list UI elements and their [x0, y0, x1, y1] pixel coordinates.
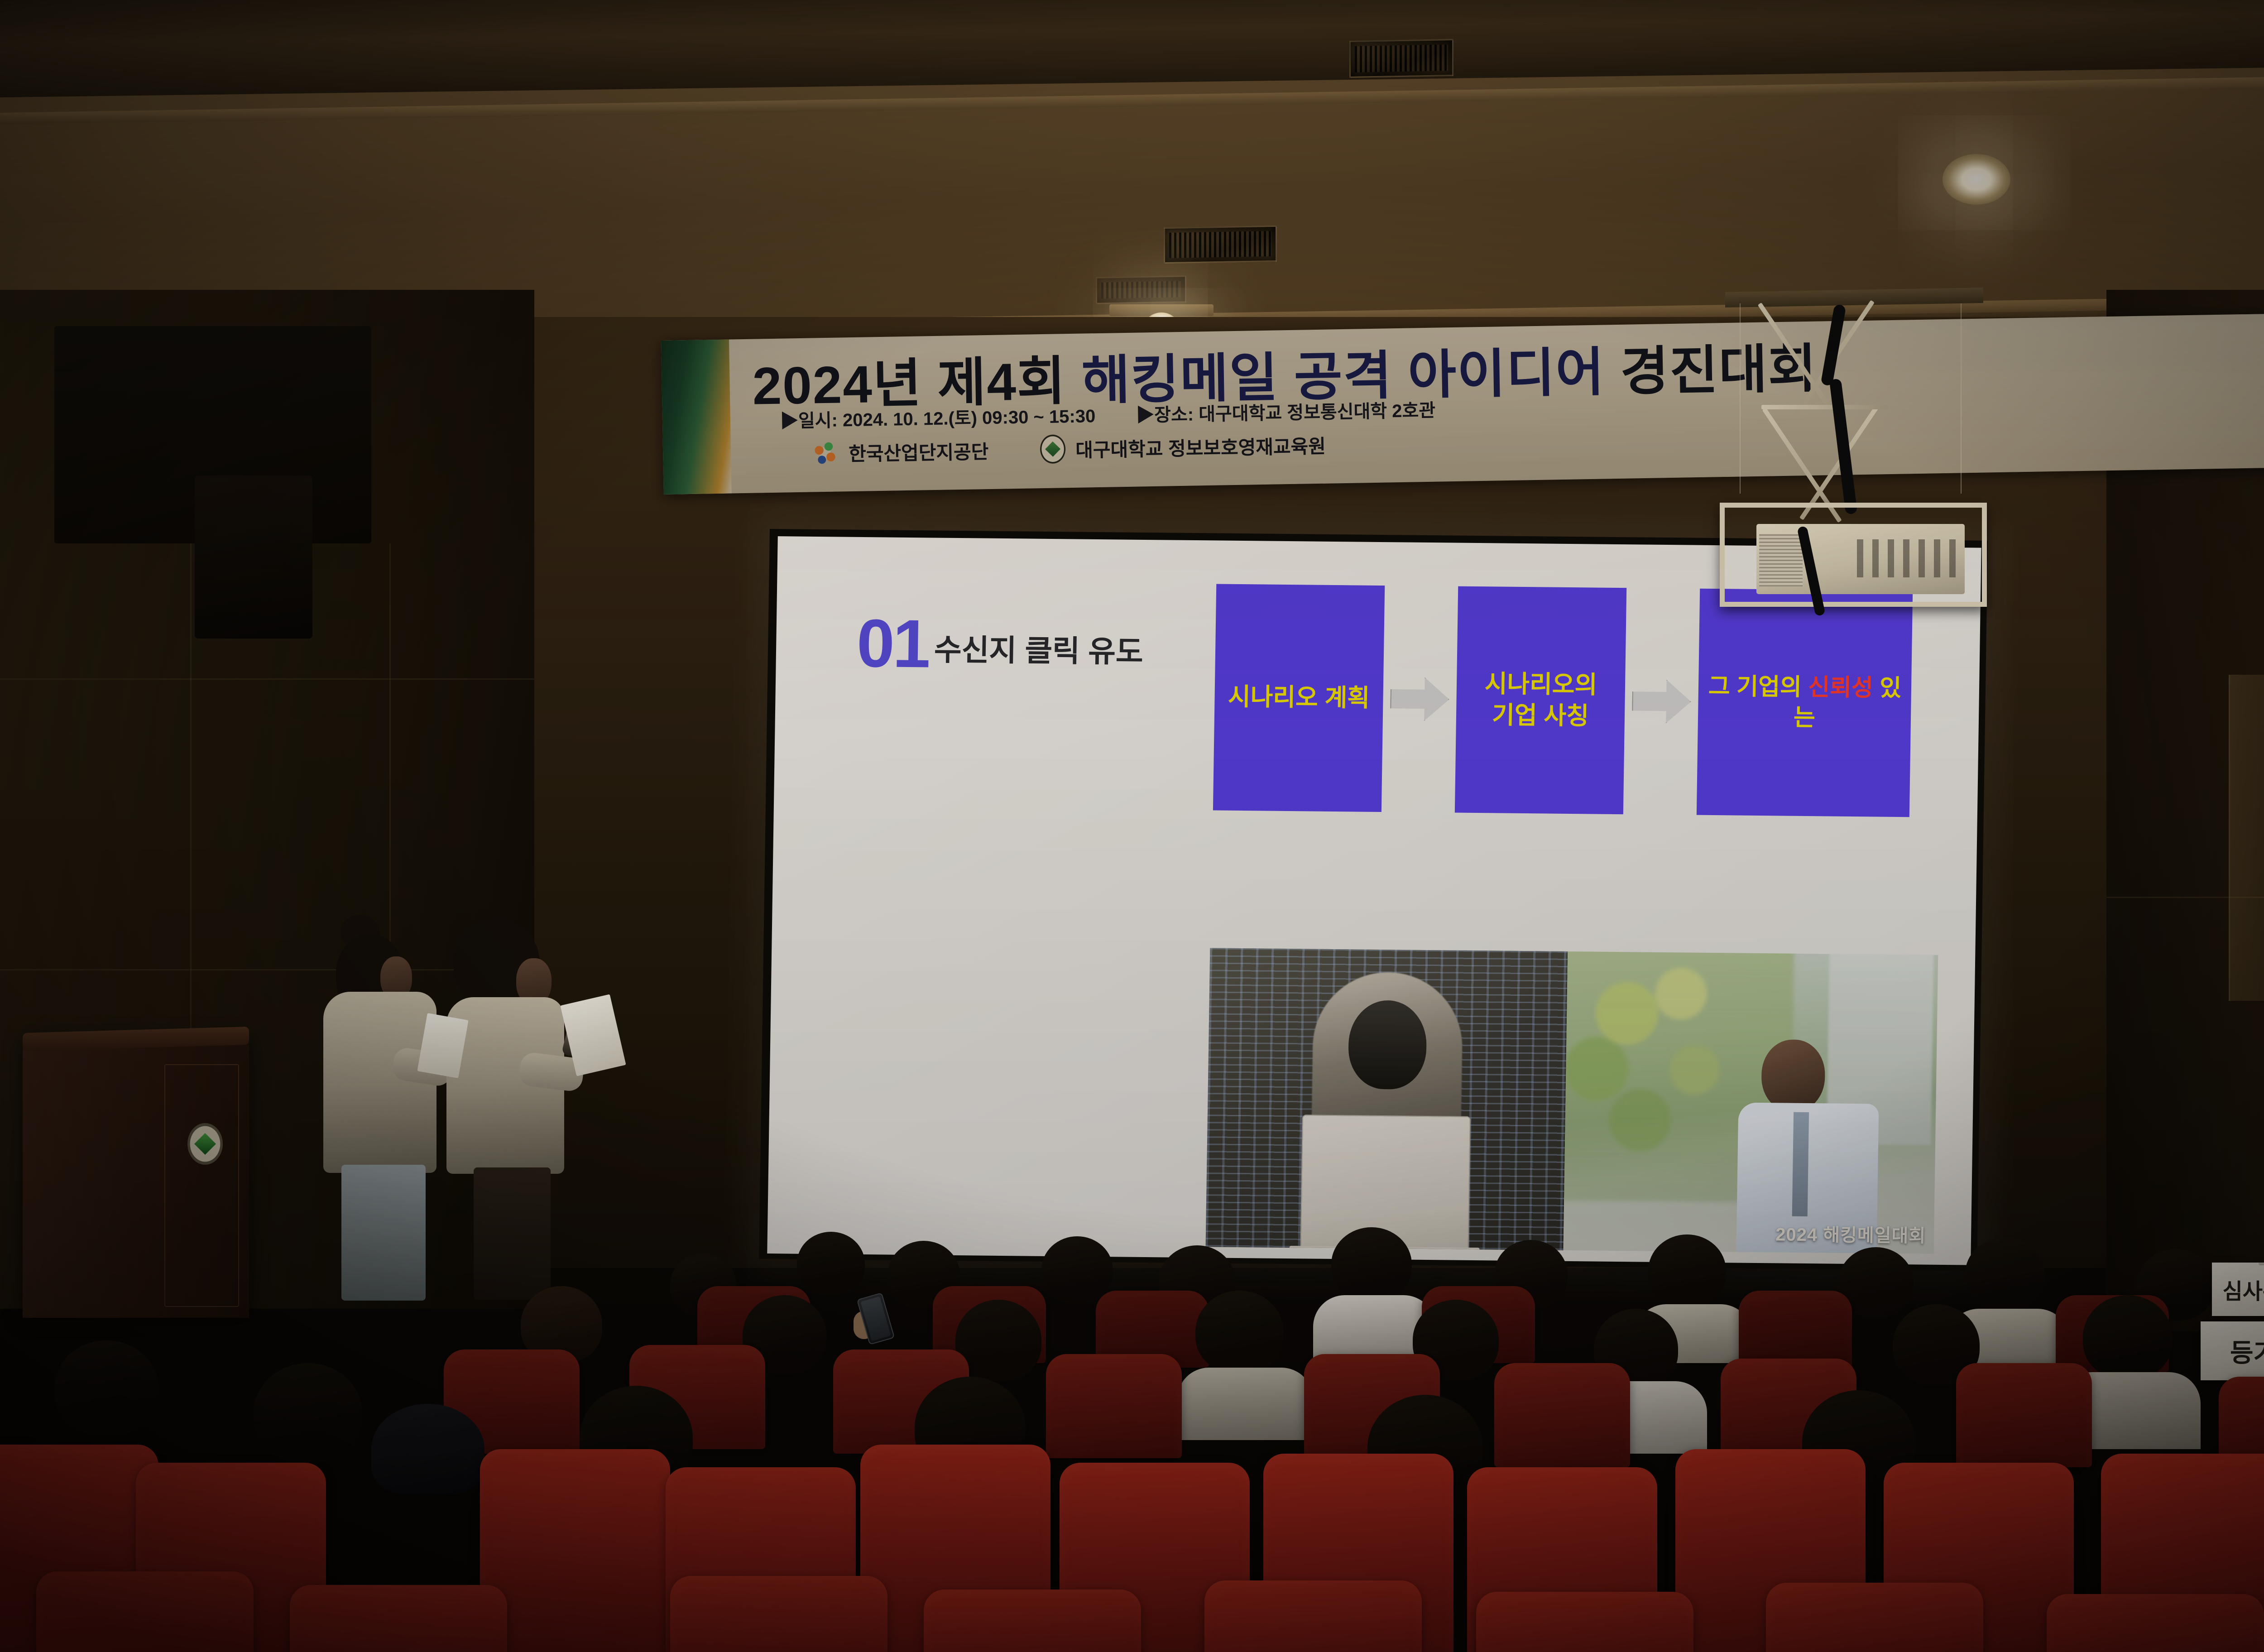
judges-placard-label: 심사위원석 [2223, 1273, 2264, 1305]
theater-seat [924, 1590, 1141, 1652]
person-head-icon [1761, 1039, 1825, 1112]
audience-head [1041, 1236, 1113, 1303]
wall-speaker [195, 475, 312, 639]
flow-step-2-line2: 기업 사칭 [1492, 701, 1589, 730]
slide-section-title: 수신지 클릭 유도 [934, 626, 1143, 676]
reserved-placard-label: 등기 초 [2230, 1333, 2264, 1369]
projector-cage [1720, 503, 1987, 607]
placard-clip [2259, 1263, 2264, 1265]
flow-step-3-before: 그 기업의 [1708, 673, 1808, 701]
theater-seat [480, 1449, 670, 1652]
banner-stripe-left [661, 340, 732, 495]
ceiling-vent-icon [1096, 275, 1186, 304]
wall-seam [2106, 897, 2264, 898]
rig-support-wire [1740, 303, 1741, 494]
banner-date: ▶일시: 2024. 10. 12.(토) 09:30 ~ 15:30 [780, 406, 1096, 432]
projector-device [1756, 524, 1965, 594]
ceiling-projector-rig [1716, 290, 1997, 661]
reserved-placard: 등기 초 [2201, 1321, 2264, 1380]
scissor-lift-mechanism [1761, 303, 1952, 506]
flow-step-2: 시나리오의기업 사칭 [1455, 586, 1626, 815]
rig-support-wire [1961, 303, 1962, 494]
judges-placard: 심사위원석 [2212, 1263, 2264, 1316]
theater-seat [2047, 1594, 2264, 1652]
slide-section-number: 01 [856, 613, 929, 674]
theater-seat [1204, 1580, 1422, 1652]
theater-seat [1956, 1363, 2092, 1467]
projector-ports-icon [1857, 539, 1957, 577]
flow-step-3-label: 그 기업의 신뢰성 있는 [1703, 672, 1906, 734]
theater-seat [36, 1571, 254, 1652]
kicox-logo-icon [812, 440, 839, 466]
wall-seam [190, 543, 192, 1042]
ceiling-downlight [1109, 304, 1214, 318]
banner-place: ▶장소: 대구대학교 정보통신대학 2호관 [1136, 401, 1436, 426]
theater-seat [1476, 1592, 1693, 1652]
banner-surface: 2024년 제4회 해킹메일 공격 아이디어 경진대회 ▶일시: 2024. 1… [661, 310, 2264, 495]
flow-arrow-icon [1632, 679, 1691, 723]
theater-seat [670, 1576, 887, 1652]
audience-head [1648, 1234, 1726, 1307]
flow-arrow-icon [1390, 677, 1449, 721]
audience-shoulders [1177, 1368, 1313, 1440]
slide-heading: 01 수신지 클릭 유도 [856, 613, 1144, 676]
audience-head [54, 1340, 158, 1436]
theater-seat [1739, 1291, 1852, 1368]
daegu-university-logo-icon [1040, 434, 1066, 464]
theater-seat [1494, 1363, 1630, 1467]
auditorium-scene: 2024년 제4회 해킹메일 공격 아이디어 경진대회 ▶일시: 2024. 1… [0, 0, 2264, 1652]
ceiling-spot-light [1943, 154, 2010, 205]
audience-head [254, 1363, 362, 1463]
right-wall-door [2229, 675, 2264, 1001]
sponsor-daegu-label: 대구대학교 정보보호영재교육원 [1075, 431, 1326, 462]
flow-step-3-highlight: 신뢰성 [1808, 674, 1873, 701]
ceiling-vent-icon [1164, 226, 1277, 264]
sponsor-kicox-label: 한국산업단지공단 [849, 437, 989, 466]
theater-seat [290, 1585, 507, 1652]
flow-step-2-label: 시나리오의기업 사칭 [1484, 668, 1597, 732]
audience-head [797, 1232, 865, 1295]
audience-head [1195, 1291, 1284, 1373]
theater-seat [1046, 1354, 1182, 1458]
ceiling-vent-icon [1349, 39, 1453, 78]
audience-head [2083, 1295, 2173, 1379]
audience-head [1331, 1227, 1412, 1301]
flow-step-2-line1: 시나리오의 [1484, 670, 1597, 698]
event-banner: 2024년 제4회 해킹메일 공격 아이디어 경진대회 ▶일시: 2024. 1… [661, 310, 2264, 495]
hidden-face-icon [1348, 1000, 1427, 1090]
audience-seating: 심사위원석 등기 초 [0, 1150, 2264, 1652]
audience-head-with-cap [371, 1404, 484, 1494]
projector-vent-icon [1759, 534, 1803, 586]
flow-step-1-label: 시나리오 계획 [1228, 682, 1370, 714]
wall-seam [0, 678, 534, 680]
theater-seat [1766, 1583, 1983, 1652]
audience-head [1965, 1237, 2045, 1311]
flow-step-1: 시나리오 계획 [1213, 584, 1385, 812]
